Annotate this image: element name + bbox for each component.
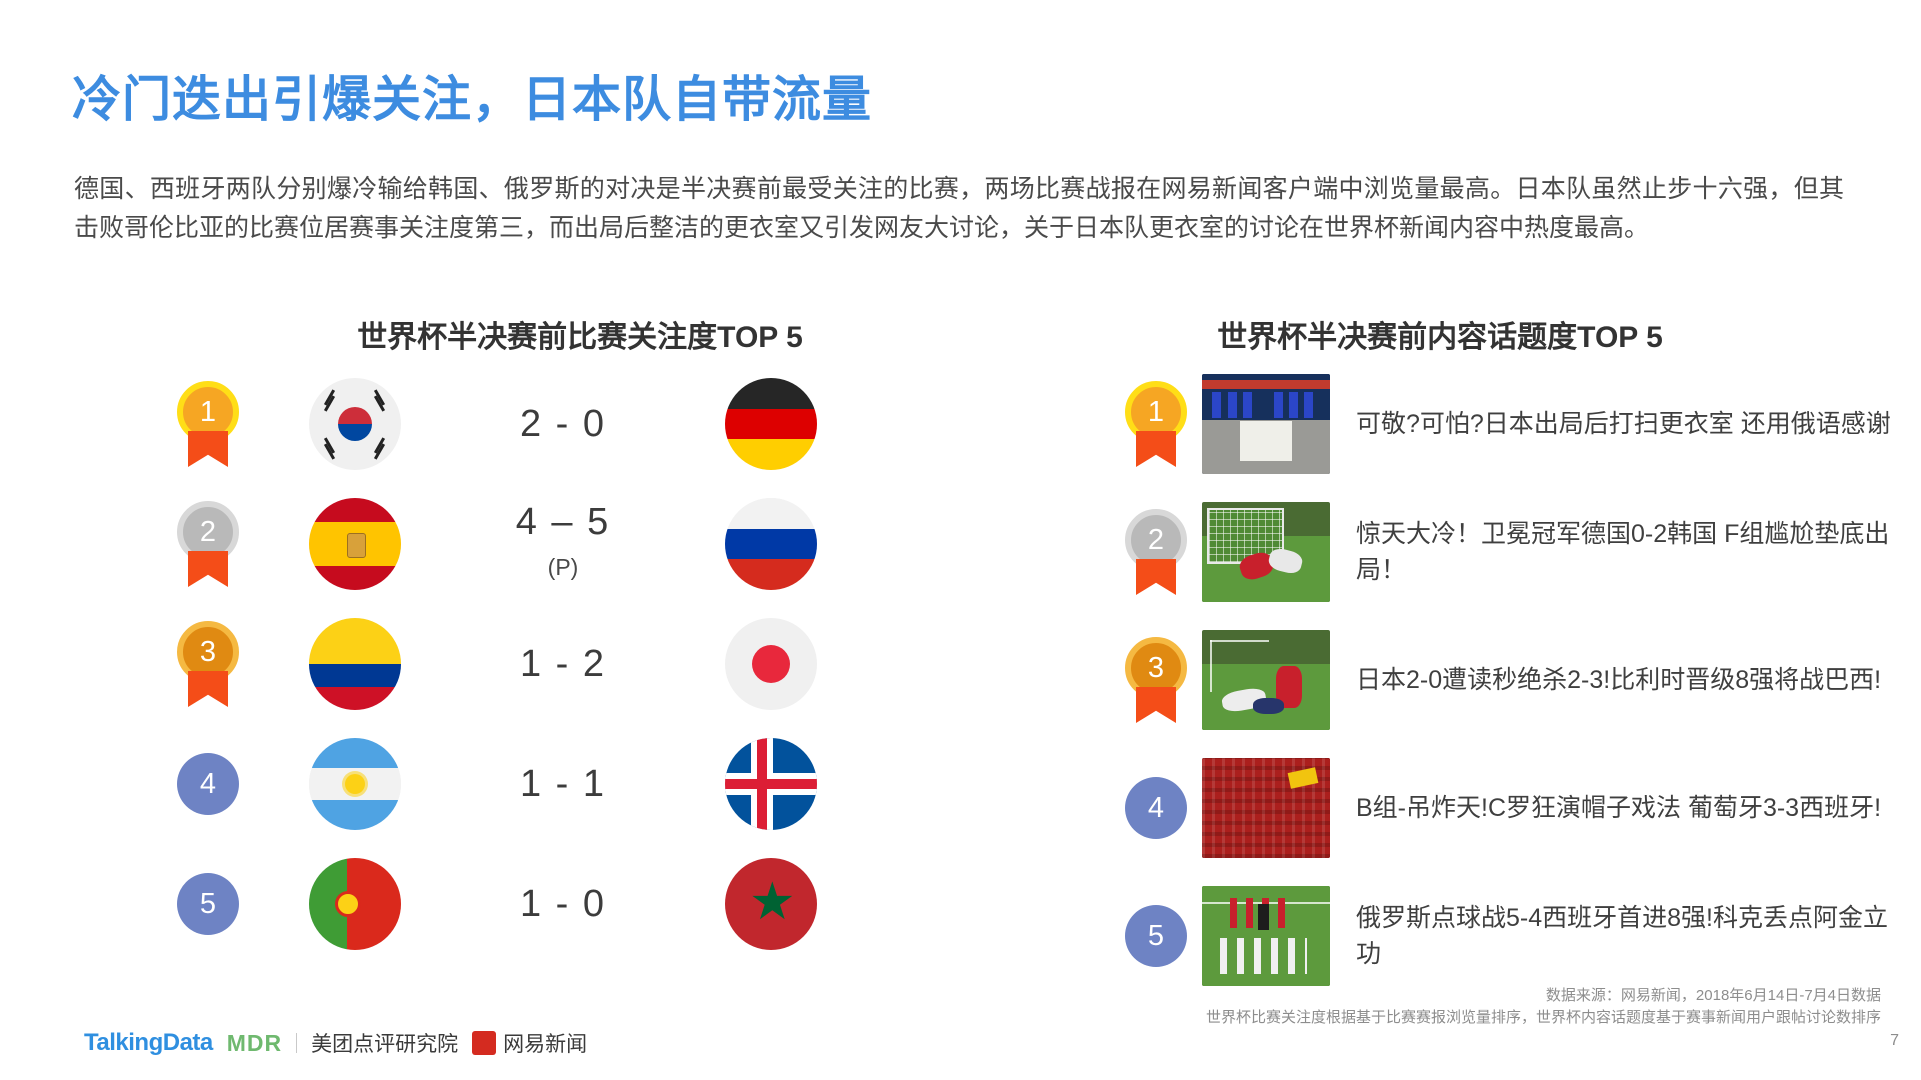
page-title: 冷门迭出引爆关注，日本队自带流量 [72, 60, 872, 131]
rank-number: 5 [1125, 905, 1187, 967]
home-flag-cell [266, 738, 444, 830]
netease-mark-icon [472, 1031, 496, 1055]
match-score: 2 - 0 [444, 402, 682, 446]
ribbon-icon [188, 671, 228, 707]
away-flag-cell [682, 378, 860, 470]
away-flag-cell [682, 738, 860, 830]
rank-number: 4 [1125, 777, 1187, 839]
slide-page: 冷门迭出引爆关注，日本队自带流量 德国、西班牙两队分别爆冷输给韩国、俄罗斯的对决… [0, 0, 1921, 1080]
rank-badge-icon: 4 [177, 753, 239, 815]
match-row: 1 2 - 0 [150, 375, 940, 473]
flag-japan-icon [725, 618, 817, 710]
rank-medal-icon: 1 [1125, 381, 1187, 467]
home-flag-cell [266, 378, 444, 470]
source-note: 数据来源：网易新闻，2018年6月14日-7月4日数据 世界杯比赛关注度根据基于… [781, 985, 1881, 1029]
away-flag-cell [682, 498, 860, 590]
match-score: 1 - 0 [444, 882, 682, 926]
logo-talkingdata: TalkingData [84, 1029, 213, 1057]
match-row: 5 1 - 0 ★ [150, 855, 940, 953]
logo-meituan-research: 美团点评研究院 [311, 1028, 458, 1058]
logo-netease-group: 网易新闻 [472, 1028, 587, 1058]
rank-medal-icon: 3 [177, 621, 239, 707]
logo-mdr: MDR [227, 1030, 282, 1057]
rank-badge-icon: 5 [177, 873, 239, 935]
source-line-1: 数据来源：网易新闻，2018年6月14日-7月4日数据 [781, 985, 1881, 1007]
flag-germany-icon [725, 378, 817, 470]
match-row: 3 1 - 2 [150, 615, 940, 713]
score-main: 1 - 1 [520, 763, 606, 805]
flag-iceland-icon [725, 738, 817, 830]
rank-cell: 4 [1110, 777, 1202, 839]
flag-russia-icon [725, 498, 817, 590]
rank-cell: 1 [150, 381, 266, 467]
score-note: (P) [444, 545, 682, 589]
news-thumbnail[interactable] [1202, 630, 1330, 730]
news-headline[interactable]: 俄罗斯点球战5-4西班牙首进8强!科克丢点阿金立功 [1330, 900, 1900, 972]
rank-badge-icon: 5 [1125, 905, 1187, 967]
away-flag-cell: ★ [682, 858, 860, 950]
home-flag-cell [266, 858, 444, 950]
logo-divider [296, 1033, 297, 1053]
ribbon-icon [1136, 687, 1176, 723]
ribbon-icon [188, 431, 228, 467]
match-score: 1 - 1 [444, 762, 682, 806]
news-headline[interactable]: 日本2-0遭读秒绝杀2-3!比利时晋级8强将战巴西! [1330, 662, 1900, 698]
logo-netease: 网易新闻 [503, 1028, 587, 1058]
left-section-heading: 世界杯半决赛前比赛关注度TOP 5 [180, 312, 980, 356]
score-main: 4 – 5 [516, 501, 611, 543]
rank-medal-icon: 2 [177, 501, 239, 587]
score-main: 1 - 2 [520, 643, 606, 685]
rank-cell: 4 [150, 753, 266, 815]
news-thumbnail[interactable] [1202, 374, 1330, 474]
rank-cell: 5 [150, 873, 266, 935]
news-item[interactable]: 1 可敬?可怕?日本出局后打扫更衣室 还用俄语感谢 [1110, 372, 1900, 476]
rank-cell: 2 [1110, 509, 1202, 595]
news-headline[interactable]: B组-吊炸天!C罗狂演帽子戏法 葡萄牙3-3西班牙! [1330, 790, 1900, 826]
news-thumbnail[interactable] [1202, 502, 1330, 602]
news-item[interactable]: 4 B组-吊炸天!C罗狂演帽子戏法 葡萄牙3-3西班牙! [1110, 756, 1900, 860]
home-flag-cell [266, 498, 444, 590]
news-item[interactable]: 3 日本2-0遭读秒绝杀2-3!比利时晋级8强将战巴西! [1110, 628, 1900, 732]
rank-medal-icon: 1 [177, 381, 239, 467]
footer-logos: TalkingData MDR 美团点评研究院 网易新闻 [84, 1028, 587, 1058]
ribbon-icon [188, 551, 228, 587]
news-thumbnail[interactable] [1202, 758, 1330, 858]
flag-south-korea-icon [309, 378, 401, 470]
flag-spain-icon [309, 498, 401, 590]
ribbon-icon [1136, 431, 1176, 467]
rank-cell: 2 [150, 501, 266, 587]
news-item[interactable]: 5 俄罗斯点球战5-4西班牙首进8强!科克丢点阿金立功 [1110, 884, 1900, 988]
match-row: 4 1 - 1 [150, 735, 940, 833]
source-line-2: 世界杯比赛关注度根据基于比赛赛报浏览量排序，世界杯内容话题度基于赛事新闻用户跟帖… [781, 1007, 1881, 1029]
rank-cell: 3 [1110, 637, 1202, 723]
intro-paragraph: 德国、西班牙两队分别爆冷输给韩国、俄罗斯的对决是半决赛前最受关注的比赛，两场比赛… [74, 170, 1844, 248]
rank-number: 4 [177, 753, 239, 815]
rank-cell: 5 [1110, 905, 1202, 967]
match-score: 1 - 2 [444, 642, 682, 686]
right-section-heading: 世界杯半决赛前内容话题度TOP 5 [1040, 312, 1840, 356]
news-headline[interactable]: 可敬?可怕?日本出局后打扫更衣室 还用俄语感谢 [1330, 406, 1900, 442]
match-row: 2 4 – 5 (P) [150, 495, 940, 593]
rank-number: 5 [177, 873, 239, 935]
flag-portugal-icon [309, 858, 401, 950]
flag-colombia-icon [309, 618, 401, 710]
home-flag-cell [266, 618, 444, 710]
rank-badge-icon: 4 [1125, 777, 1187, 839]
page-number: 7 [1890, 1032, 1899, 1050]
rank-medal-icon: 3 [1125, 637, 1187, 723]
news-item[interactable]: 2 惊天大冷！卫冕冠军德国0-2韩国 F组尴尬垫底出局！ [1110, 500, 1900, 604]
match-score: 4 – 5 (P) [444, 500, 682, 589]
rank-medal-icon: 2 [1125, 509, 1187, 595]
rank-cell: 3 [150, 621, 266, 707]
score-main: 2 - 0 [520, 403, 606, 445]
rank-cell: 1 [1110, 381, 1202, 467]
news-headline[interactable]: 惊天大冷！卫冕冠军德国0-2韩国 F组尴尬垫底出局！ [1330, 516, 1900, 588]
news-ranking-list: 1 可敬?可怕?日本出局后打扫更衣室 还用俄语感谢 2 [1110, 372, 1900, 1012]
score-main: 1 - 0 [520, 883, 606, 925]
flag-argentina-icon [309, 738, 401, 830]
news-thumbnail[interactable] [1202, 886, 1330, 986]
flag-morocco-icon: ★ [725, 858, 817, 950]
match-ranking-list: 1 2 - 0 [150, 375, 940, 975]
away-flag-cell [682, 618, 860, 710]
ribbon-icon [1136, 559, 1176, 595]
